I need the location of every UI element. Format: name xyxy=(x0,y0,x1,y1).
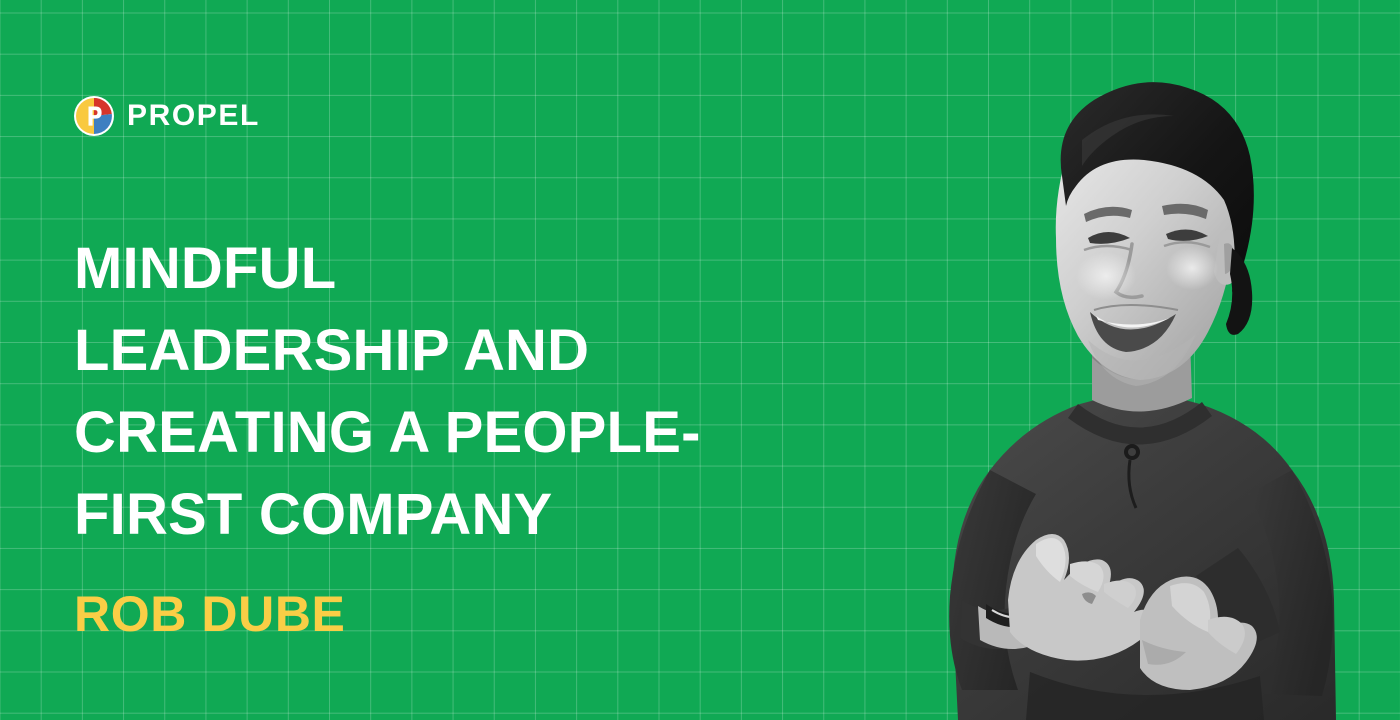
brand-wordmark: PROPEL xyxy=(127,101,260,131)
slide-copy: MINDFUL LEADERSHIP AND CREATING A PEOPLE… xyxy=(74,228,834,639)
propel-circle-logo-icon xyxy=(74,96,114,136)
presentation-slide: PROPEL MINDFUL LEADERSHIP AND CREATING A… xyxy=(0,0,1400,720)
brand-lockup: PROPEL xyxy=(74,96,260,136)
speaker-name: ROB DUBE xyxy=(74,556,834,639)
slide-headline: MINDFUL LEADERSHIP AND CREATING A PEOPLE… xyxy=(74,228,834,556)
speaker-photo xyxy=(840,0,1400,720)
